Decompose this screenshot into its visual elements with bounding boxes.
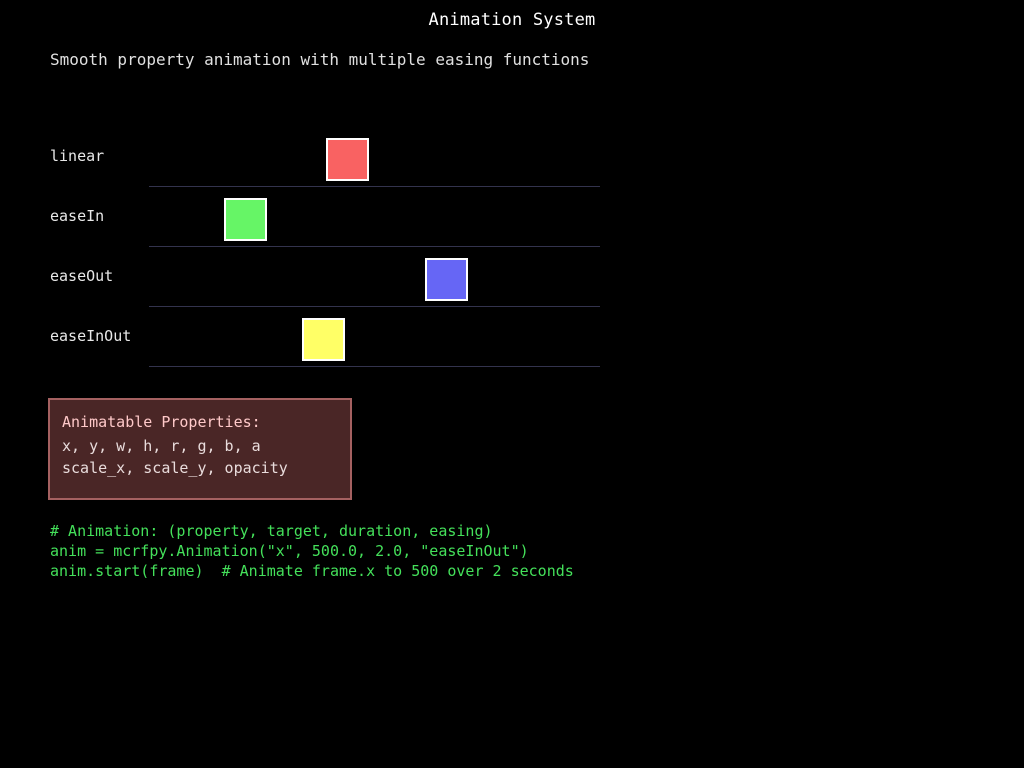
animated-box-easeout — [425, 258, 468, 301]
animation-system-demo: Animation System Smooth property animati… — [0, 0, 1024, 768]
track-label-easein: easeIn — [50, 206, 104, 226]
track-lane-easein — [149, 198, 600, 241]
code-line-comment: # Animation: (property, target, duration… — [50, 521, 750, 541]
animated-box-linear — [326, 138, 369, 181]
track-lane-easeout — [149, 258, 600, 301]
track-divider-linear — [149, 186, 600, 187]
code-line-construct: anim = mcrfpy.Animation("x", 500.0, 2.0,… — [50, 541, 750, 561]
track-divider-easeinout — [149, 366, 600, 367]
animatable-properties-title: Animatable Properties: — [62, 412, 261, 432]
easing-track-list: lineareaseIneaseOuteaseInOut — [0, 0, 1024, 380]
animated-box-easein — [224, 198, 267, 241]
track-lane-easeinout — [149, 318, 600, 361]
track-label-easeinout: easeInOut — [50, 326, 131, 346]
animatable-properties-panel: Animatable Properties: x, y, w, h, r, g,… — [48, 398, 352, 500]
track-label-easeout: easeOut — [50, 266, 113, 286]
animatable-properties-line-2: scale_x, scale_y, opacity — [62, 458, 288, 478]
animated-box-easeinout — [302, 318, 345, 361]
track-divider-easeout — [149, 306, 600, 307]
code-line-start: anim.start(frame) # Animate frame.x to 5… — [50, 561, 750, 581]
track-label-linear: linear — [50, 146, 104, 166]
track-divider-easein — [149, 246, 600, 247]
track-lane-linear — [149, 138, 600, 181]
animatable-properties-line-1: x, y, w, h, r, g, b, a — [62, 436, 261, 456]
code-sample: # Animation: (property, target, duration… — [50, 521, 750, 581]
